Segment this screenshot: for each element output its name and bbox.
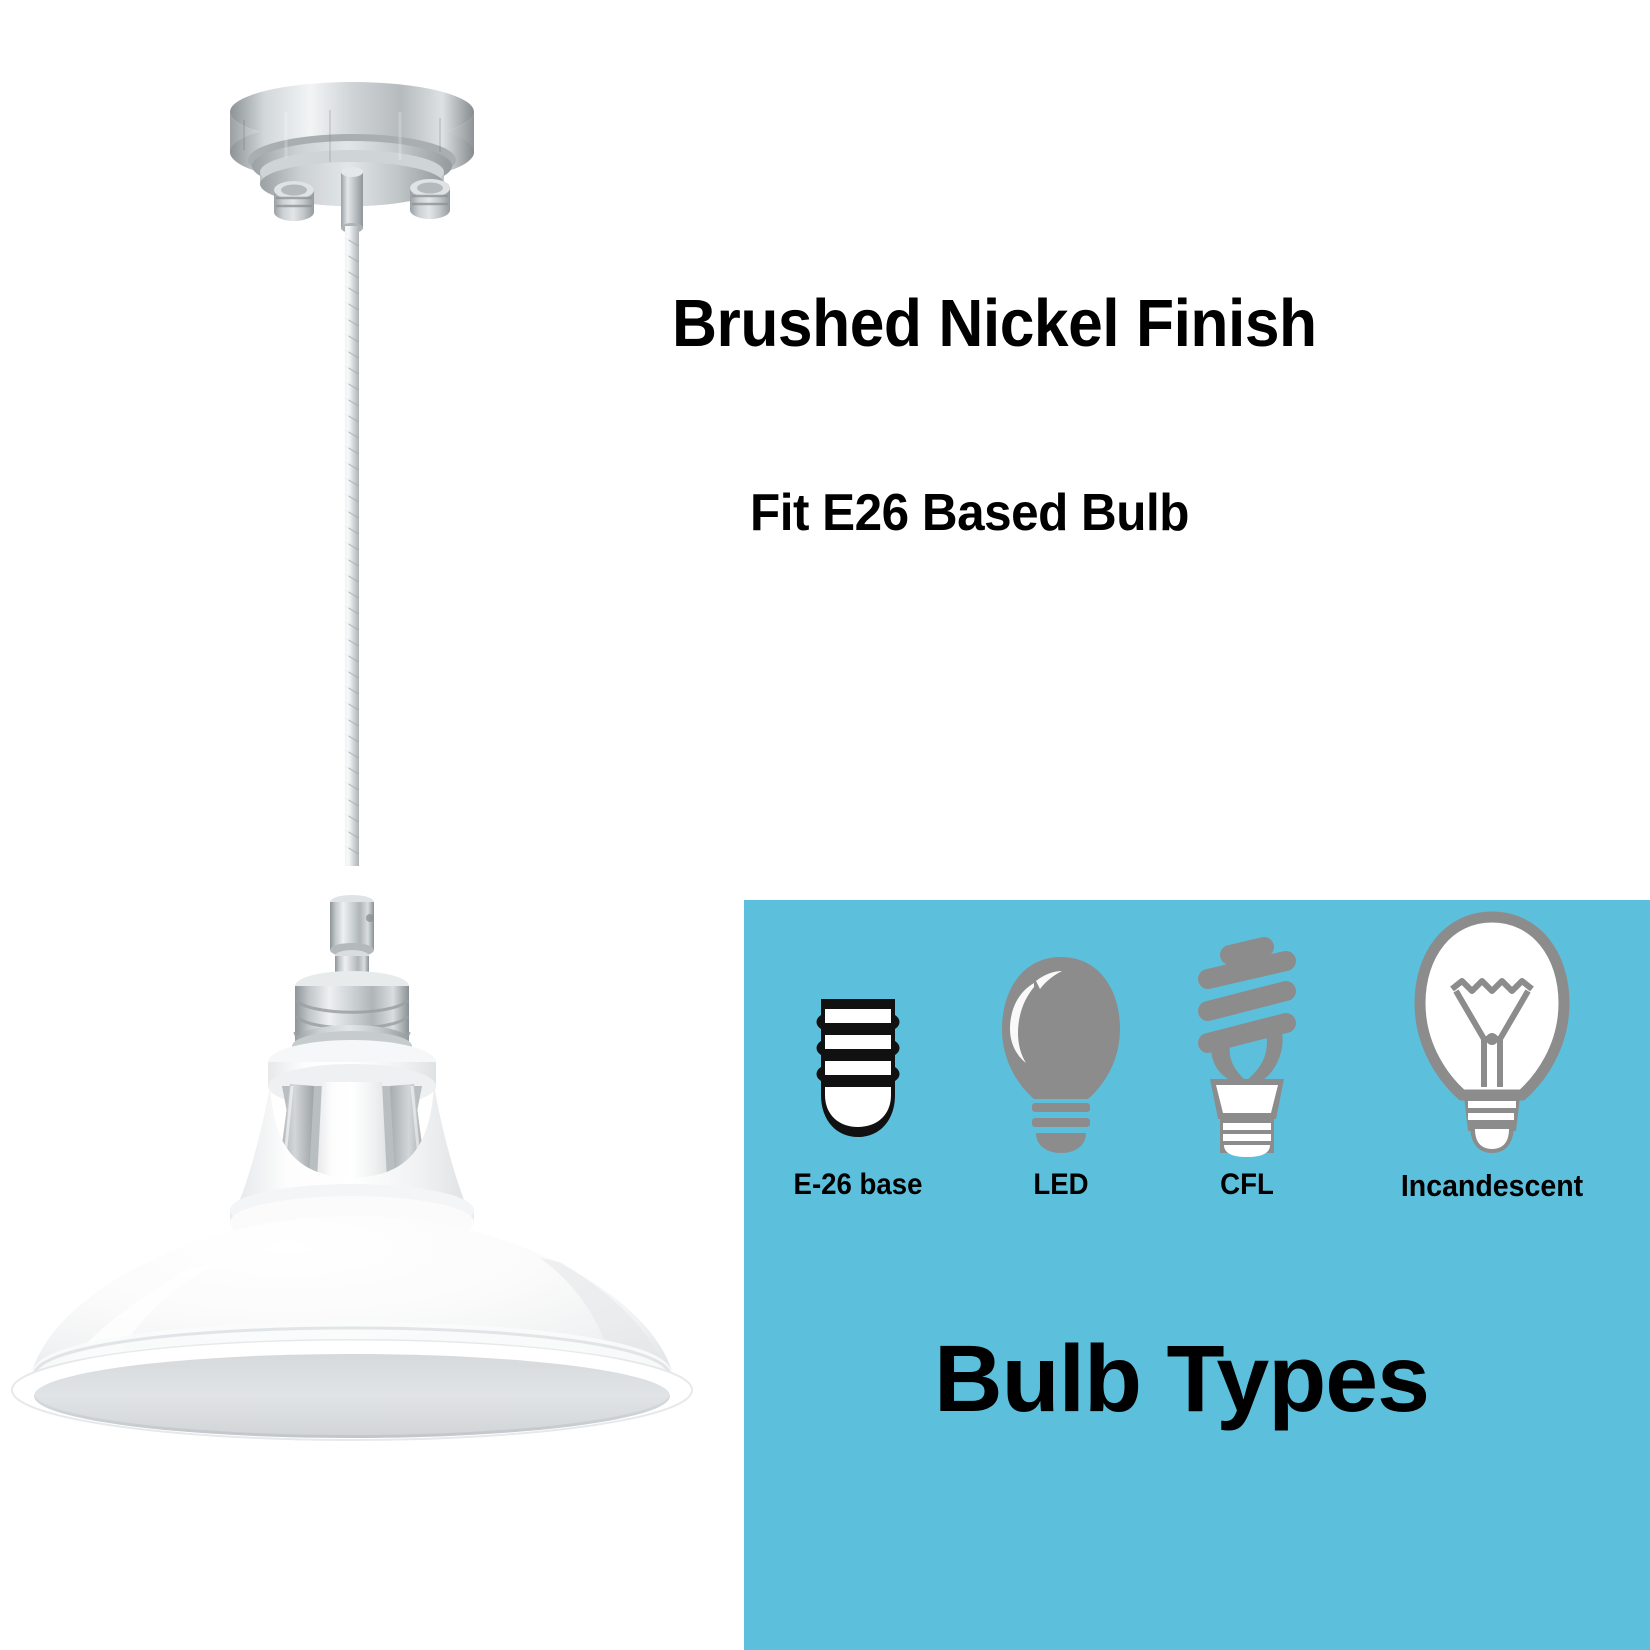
bulb-label-cfl: CFL bbox=[1220, 1168, 1274, 1202]
cfl-spiral-bulb-icon bbox=[1184, 933, 1310, 1162]
hanging-cord bbox=[345, 226, 359, 866]
headline-brushed-nickel-finish: Brushed Nickel Finish bbox=[672, 285, 1317, 362]
bulb-item-cfl: CFL bbox=[1154, 900, 1340, 1210]
led-bulb-icon bbox=[996, 953, 1126, 1162]
canopy-screw-right bbox=[410, 179, 450, 219]
infographic-canvas: Brushed Nickel Finish Fit E26 Based Bulb… bbox=[0, 0, 1650, 1650]
bulb-label-e26-base: E-26 base bbox=[794, 1168, 923, 1202]
bulb-item-e26-base: E-26 base bbox=[744, 900, 972, 1210]
ceiling-canopy bbox=[230, 82, 474, 233]
bulb-item-incandescent: Incandescent bbox=[1334, 900, 1650, 1210]
bulb-item-led: LED bbox=[966, 900, 1156, 1210]
bulb-types-panel: E-26 base LED bbox=[744, 900, 1650, 1650]
canopy-screw-left bbox=[274, 181, 314, 221]
incandescent-bulb-icon bbox=[1412, 911, 1572, 1162]
bulb-label-incandescent: Incandescent bbox=[1401, 1168, 1583, 1204]
e26-screw-base-icon bbox=[799, 991, 917, 1148]
headline-fit-e26-based-bulb: Fit E26 Based Bulb bbox=[750, 483, 1189, 543]
white-dome-shade bbox=[12, 1040, 692, 1440]
pendant-light-product-image bbox=[0, 0, 744, 1450]
canopy-center-stem bbox=[341, 167, 363, 233]
bulb-label-led: LED bbox=[1033, 1168, 1088, 1202]
bulb-icons-row: E-26 base LED bbox=[744, 900, 1650, 1210]
bulb-types-title: Bulb Types bbox=[934, 1325, 1429, 1434]
